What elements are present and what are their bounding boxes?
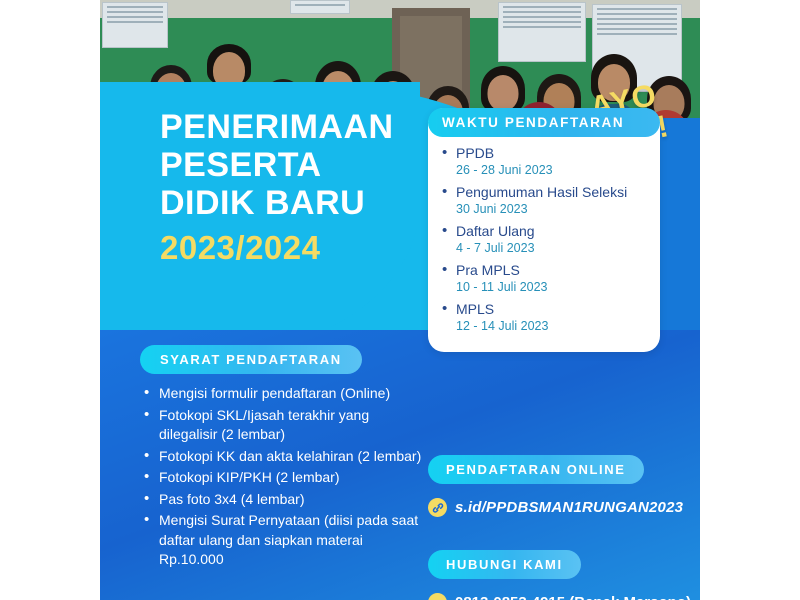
schedule-title: Pengumuman Hasil Seleksi <box>442 184 650 201</box>
headline-year: 2023/2024 <box>160 228 470 268</box>
headline-line-3: DIDIK BARU <box>160 184 470 222</box>
online-registration-header: PENDAFTARAN ONLINE <box>428 455 644 484</box>
list-item: Pas foto 3x4 (4 lembar) <box>144 490 422 510</box>
wall-sign <box>102 2 168 48</box>
page-title: PENERIMAAN PESERTA DIDIK BARU 2023/2024 <box>160 108 470 268</box>
phone-icon <box>428 593 447 600</box>
schedule-date: 4 - 7 Juli 2023 <box>442 240 650 256</box>
contact-phone[interactable]: 0813-0853-4915 (Bapak Marsono) <box>455 594 691 600</box>
list-item: Pengumuman Hasil Seleksi 30 Juni 2023 <box>442 184 650 217</box>
requirements-header: SYARAT PENDAFTARAN <box>140 345 362 374</box>
contact-phone-row[interactable]: 0813-0853-4915 (Bapak Marsono) <box>428 593 678 600</box>
schedule-title: PPDB <box>442 145 650 162</box>
schedule-header: WAKTU PENDAFTARAN <box>428 108 660 137</box>
schedule-title: Pra MPLS <box>442 262 650 279</box>
schedule-date: 26 - 28 Juni 2023 <box>442 162 650 178</box>
schedule-card: WAKTU PENDAFTARAN PPDB 26 - 28 Juni 2023… <box>428 108 660 352</box>
requirements-section: SYARAT PENDAFTARAN Mengisi formulir pend… <box>140 345 422 572</box>
schedule-list: PPDB 26 - 28 Juni 2023 Pengumuman Hasil … <box>428 145 660 334</box>
requirements-list: Mengisi formulir pendaftaran (Online) Fo… <box>144 384 422 570</box>
list-item: Daftar Ulang 4 - 7 Juli 2023 <box>442 223 650 256</box>
list-item: MPLS 12 - 14 Juli 2023 <box>442 301 650 334</box>
list-item: Mengisi Surat Pernyataan (diisi pada saa… <box>144 511 422 570</box>
contact-section: HUBUNGI KAMI 0813-0853-4915 (Bapak Marso… <box>428 550 678 600</box>
schedule-title: MPLS <box>442 301 650 318</box>
wall-sign <box>498 2 586 62</box>
poster: PENERIMAAN PESERTA DIDIK BARU 2023/2024 … <box>100 0 700 600</box>
schedule-title: Daftar Ulang <box>442 223 650 240</box>
list-item: Fotokopi KIP/PKH (2 lembar) <box>144 468 422 488</box>
headline-line-1: PENERIMAAN <box>160 108 470 146</box>
list-item: PPDB 26 - 28 Juni 2023 <box>442 145 650 178</box>
schedule-date: 30 Juni 2023 <box>442 201 650 217</box>
list-item: Mengisi formulir pendaftaran (Online) <box>144 384 422 404</box>
list-item: Pra MPLS 10 - 11 Juli 2023 <box>442 262 650 295</box>
contact-header: HUBUNGI KAMI <box>428 550 581 579</box>
link-icon <box>428 498 447 517</box>
headline-line-2: PESERTA <box>160 146 470 184</box>
schedule-date: 10 - 11 Juli 2023 <box>442 279 650 295</box>
list-item: Fotokopi KK dan akta kelahiran (2 lembar… <box>144 447 422 467</box>
list-item: Fotokopi SKL/Ijasah terakhir yang dilega… <box>144 406 422 445</box>
schedule-date: 12 - 14 Juli 2023 <box>442 318 650 334</box>
registration-link-row[interactable]: s.id/PPDBSMAN1RUNGAN2023 <box>428 498 678 517</box>
wall-sign <box>290 0 350 14</box>
registration-link[interactable]: s.id/PPDBSMAN1RUNGAN2023 <box>455 499 683 516</box>
online-registration-section: PENDAFTARAN ONLINE s.id/PPDBSMAN1RUNGAN2… <box>428 455 678 517</box>
